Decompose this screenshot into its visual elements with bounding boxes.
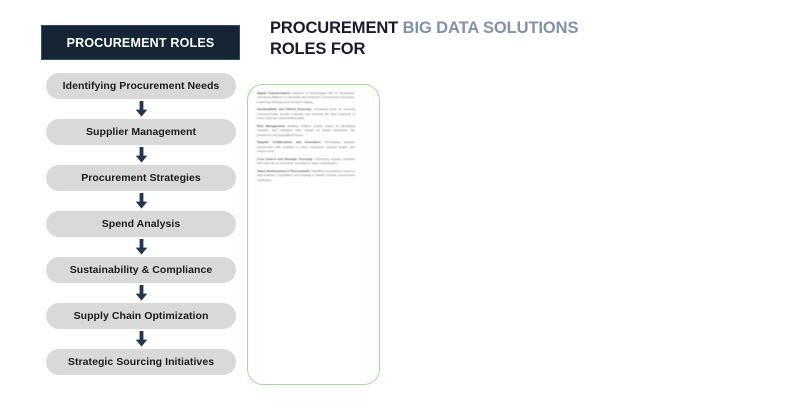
arrow-down-icon	[46, 237, 236, 257]
arrow-down-icon	[46, 191, 236, 211]
arrow-down-icon	[46, 99, 236, 119]
procurement-roles-flowchart: Identifying Procurement Needs Supplier M…	[46, 73, 236, 375]
detail-section-heading: Cost Control and Strategic Sourcing:	[257, 157, 313, 161]
flow-node-sustainability-compliance[interactable]: Sustainability & Compliance	[46, 257, 236, 283]
big-data-solutions-detail-panel: Digital Transformation: Adoption of tech…	[247, 84, 380, 385]
page-title-primary-cont: ROLES FOR	[270, 40, 365, 58]
detail-section-heading: Sustainability and Ethical Sourcing:	[257, 107, 312, 111]
flow-node-spend-analysis[interactable]: Spend Analysis	[46, 211, 236, 237]
flow-node-label: Supply Chain Optimization	[74, 310, 209, 322]
detail-section-sustainability-ethical-sourcing: Sustainability and Ethical Sourcing: Inc…	[257, 107, 355, 120]
detail-section-digital-transformation: Digital Transformation: Adoption of tech…	[257, 91, 355, 104]
procurement-roles-header-label: PROCUREMENT ROLES	[67, 36, 215, 50]
arrow-down-icon	[46, 329, 236, 349]
flow-node-supplier-management[interactable]: Supplier Management	[46, 119, 236, 145]
page-title-primary: PROCUREMENT	[270, 19, 398, 37]
procurement-roles-header: PROCUREMENT ROLES	[41, 25, 240, 60]
detail-section-risk-management: Risk Management: Building resilient supp…	[257, 124, 355, 137]
detail-section-heading: Supplier Collaboration and Innovation:	[257, 140, 321, 144]
arrow-down-icon	[46, 145, 236, 165]
detail-section-talent-development: Talent Development in Procurement: Upski…	[257, 169, 355, 182]
arrow-down-icon	[46, 283, 236, 303]
flow-node-label: Procurement Strategies	[81, 172, 201, 184]
flow-node-label: Strategic Sourcing Initiatives	[68, 356, 214, 368]
flow-node-label: Supplier Management	[86, 126, 196, 138]
page-title: PROCUREMENT BIG DATA SOLUTIONS ROLES FOR	[270, 18, 600, 60]
page-title-accent: BIG DATA SOLUTIONS	[403, 19, 579, 37]
detail-section-cost-control-strategic-sourcing: Cost Control and Strategic Sourcing: Opt…	[257, 157, 355, 166]
flow-node-procurement-strategies[interactable]: Procurement Strategies	[46, 165, 236, 191]
flow-node-supply-chain-optimization[interactable]: Supply Chain Optimization	[46, 303, 236, 329]
detail-section-heading: Risk Management:	[257, 124, 285, 128]
flow-node-label: Identifying Procurement Needs	[63, 80, 220, 92]
detail-panel-text: Digital Transformation: Adoption of tech…	[257, 91, 355, 185]
flow-node-label: Spend Analysis	[102, 218, 181, 230]
detail-section-supplier-collaboration-innovation: Supplier Collaboration and Innovation: D…	[257, 140, 355, 153]
flow-node-strategic-sourcing-initiatives[interactable]: Strategic Sourcing Initiatives	[46, 349, 236, 375]
flow-node-label: Sustainability & Compliance	[70, 264, 213, 276]
detail-section-heading: Digital Transformation:	[257, 91, 291, 95]
detail-section-heading: Talent Development in Procurement:	[257, 169, 310, 173]
flow-node-identifying-procurement-needs[interactable]: Identifying Procurement Needs	[46, 73, 236, 99]
